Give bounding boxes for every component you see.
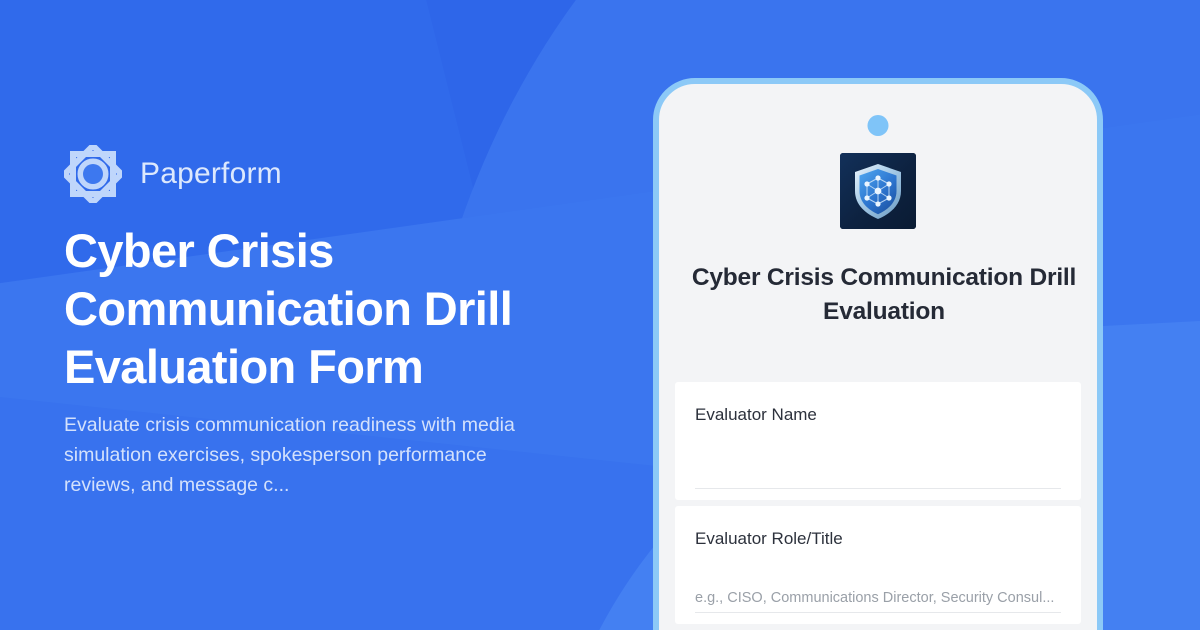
hero-text-column: Paperform Cyber Crisis Communication Dri…: [64, 0, 624, 630]
page-subtitle: Evaluate crisis communication readiness …: [64, 410, 534, 500]
form-field-list: Evaluator Name Evaluator Role/Title e.g.…: [675, 382, 1081, 630]
social-preview-card: Paperform Cyber Crisis Communication Dri…: [0, 0, 1200, 630]
brand-name: Paperform: [140, 157, 282, 191]
brand-logo: Paperform: [64, 145, 282, 203]
form-title: Cyber Crisis Communication Drill Evaluat…: [687, 261, 1081, 329]
field-placeholder: e.g., CISO, Communications Director, Sec…: [695, 589, 1054, 607]
paperform-logo-icon: [64, 145, 122, 203]
cyber-shield-network-icon: [840, 153, 916, 229]
phone-mockup: Cyber Crisis Communication Drill Evaluat…: [653, 78, 1103, 630]
camera-dot-icon: [868, 115, 889, 136]
page-title: Cyber Crisis Communication Drill Evaluat…: [64, 222, 584, 396]
form-field-evaluator-role[interactable]: Evaluator Role/Title e.g., CISO, Communi…: [675, 506, 1081, 624]
evaluator-role-input[interactable]: e.g., CISO, Communications Director, Sec…: [695, 583, 1061, 613]
form-field-evaluator-name[interactable]: Evaluator Name: [675, 382, 1081, 500]
field-label: Evaluator Name: [695, 404, 1061, 426]
evaluator-name-input[interactable]: [695, 459, 1061, 489]
field-label: Evaluator Role/Title: [695, 528, 1061, 550]
